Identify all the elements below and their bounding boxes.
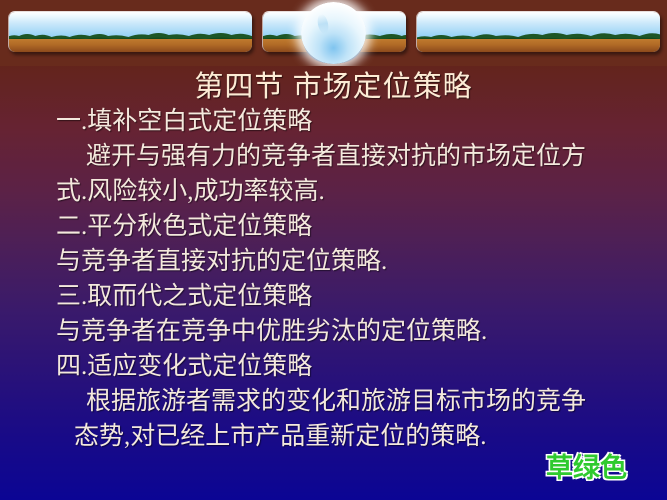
body-line: 与竞争者直接对抗的定位策略. <box>0 244 667 279</box>
ground-strip <box>417 39 660 52</box>
body-line: 与竞争者在竞争中优胜劣汰的定位策略. <box>0 314 667 349</box>
body-line: 四.适应变化式定位策略 <box>0 349 667 384</box>
body-line: 二.平分秋色式定位策略 <box>0 209 667 244</box>
body-line: 三.取而代之式定位策略 <box>0 279 667 314</box>
landscape-panel-left <box>8 11 252 52</box>
body-line: 一.填补空白式定位策略 <box>0 104 667 139</box>
slide-body: 一.填补空白式定位策略 避开与强有力的竞争者直接对抗的市场定位方 式.风险较小,… <box>0 104 667 454</box>
body-line: 态势,对已经上市产品重新定位的策略. <box>0 419 667 454</box>
presentation-slide: 第四节 市场定位策略 一.填补空白式定位策略 避开与强有力的竞争者直接对抗的市场… <box>0 0 667 500</box>
glowing-sphere-icon <box>301 2 366 64</box>
body-line: 避开与强有力的竞争者直接对抗的市场定位方 <box>0 139 667 174</box>
landscape-panel-right <box>416 11 660 52</box>
slide-title: 第四节 市场定位策略 <box>0 70 667 104</box>
footer-color-label: 草绿色 <box>546 452 627 484</box>
ground-strip <box>9 39 252 52</box>
header-decoration-band <box>0 0 667 66</box>
body-line: 根据旅游者需求的变化和旅游目标市场的竞争 <box>0 384 667 419</box>
body-line: 式.风险较小,成功率较高. <box>0 174 667 209</box>
